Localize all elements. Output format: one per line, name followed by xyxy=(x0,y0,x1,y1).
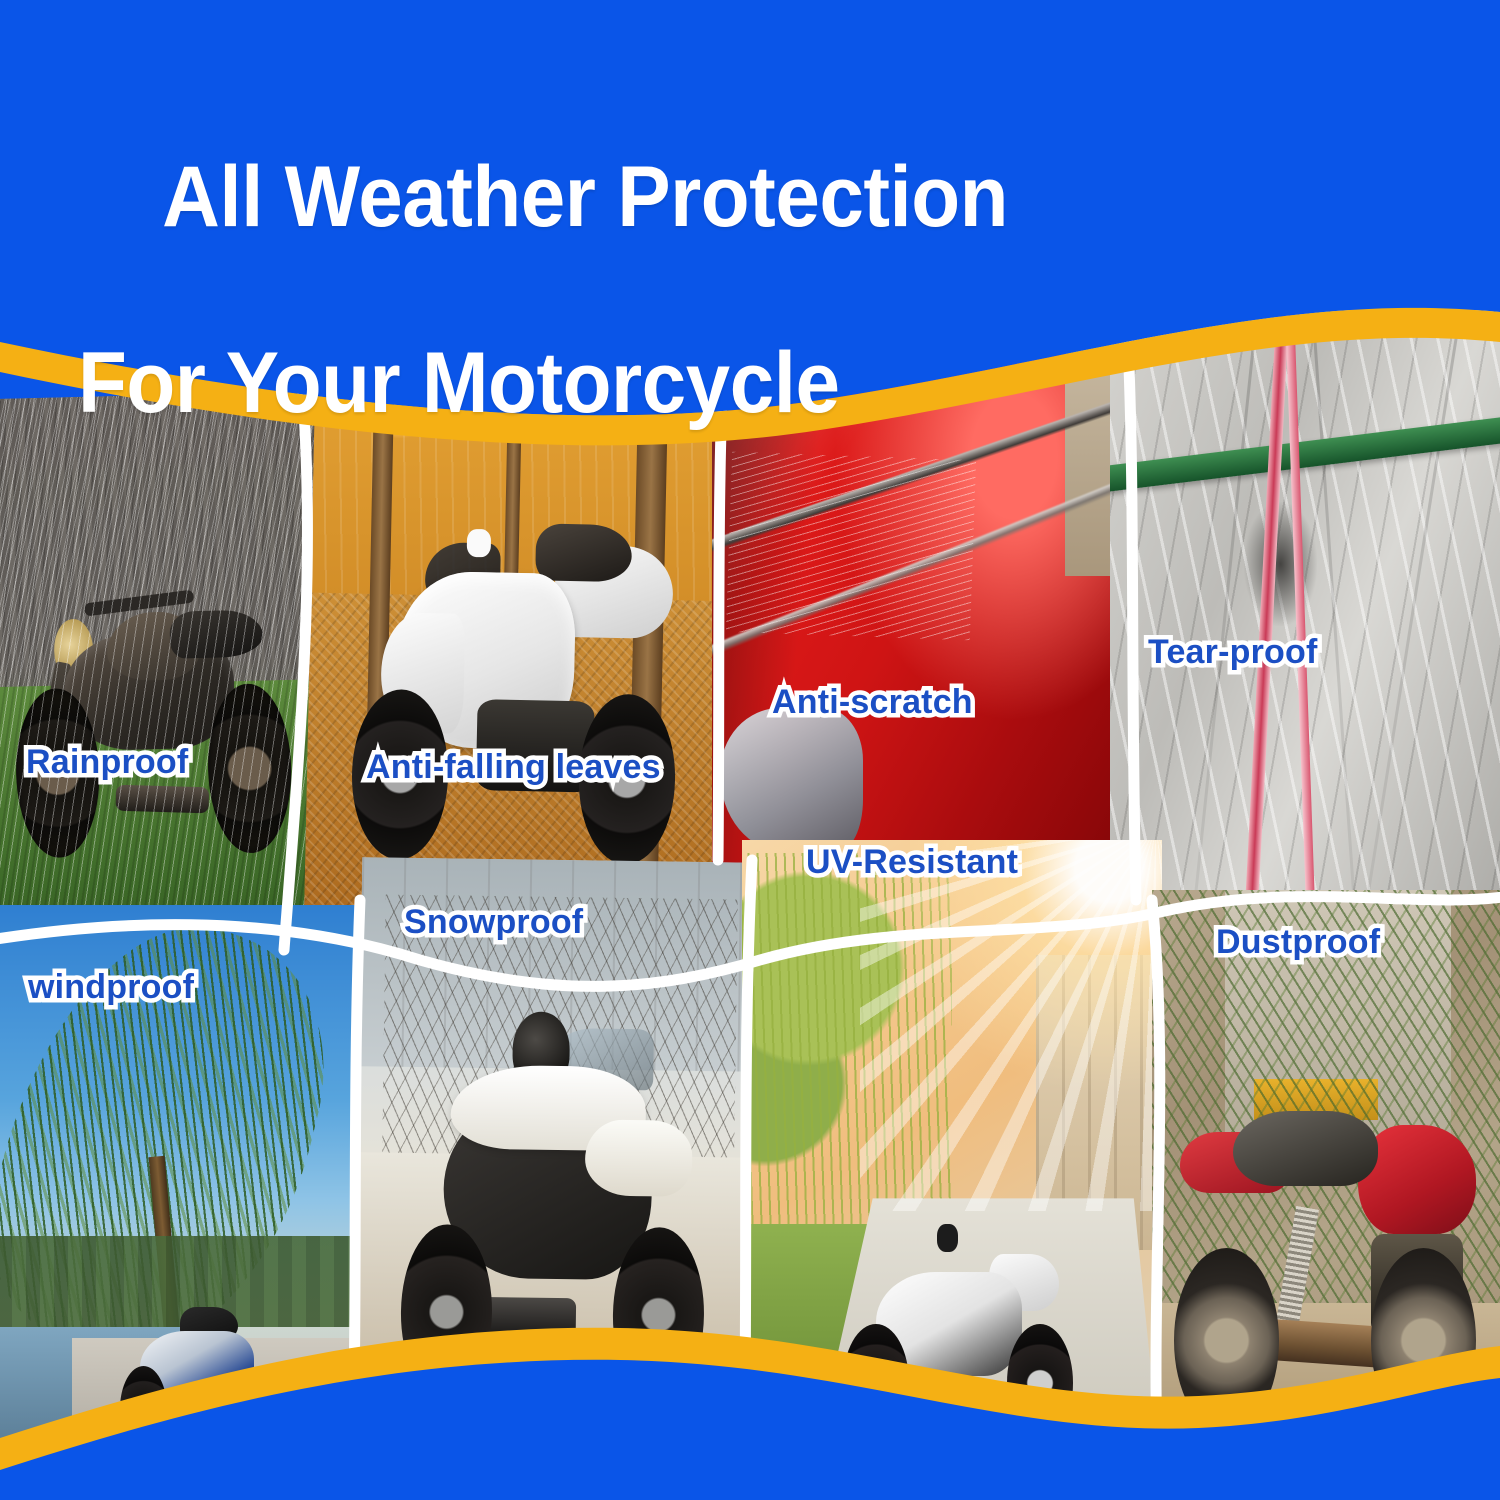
label-anti-falling-leaves: Anti-falling leaves xyxy=(366,748,661,787)
page-title-line1: All Weather Protection xyxy=(162,149,1008,245)
page-title: All Weather Protection For Your Motorcyc… xyxy=(78,58,1008,615)
page-title-line2: For Your Motorcycle xyxy=(78,337,1008,430)
label-tear-proof: Tear-proof xyxy=(1148,633,1317,672)
label-uv-resistant: UV-Resistant xyxy=(806,843,1018,882)
label-dustproof: Dustproof xyxy=(1216,923,1380,962)
label-windproof: windproof xyxy=(28,968,194,1007)
bottom-gold-wave xyxy=(0,1320,1500,1500)
label-snowproof: Snowproof xyxy=(404,903,583,942)
label-anti-scratch: Anti-scratch xyxy=(772,683,973,722)
infographic-canvas: Rainproof Anti-falling leaves Anti-scrat… xyxy=(0,0,1500,1500)
label-rainproof: Rainproof xyxy=(26,743,188,782)
